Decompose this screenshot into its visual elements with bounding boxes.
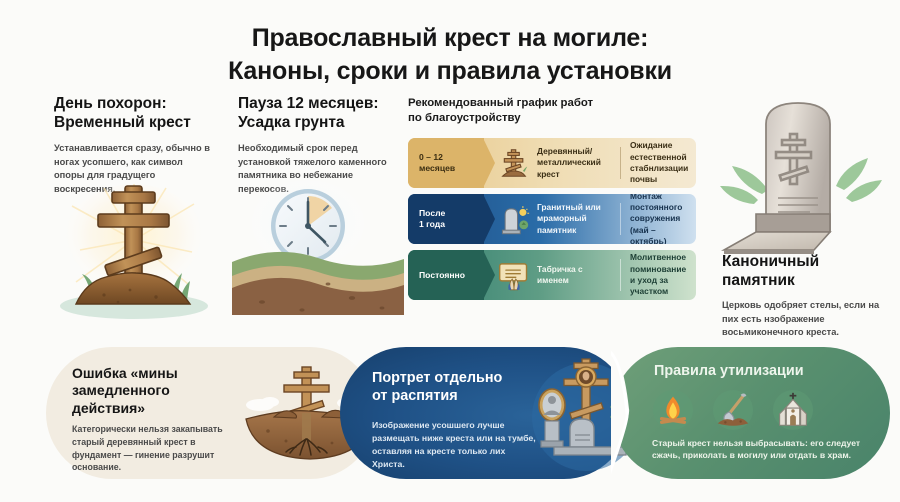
section-canonical-monument: Каноничный памятник Церковь одобряет сте… [722, 253, 882, 340]
card-mistake[interactable]: Ошибка «мины замедленного действия» Кате… [46, 347, 376, 479]
funeral-day-heading-line-1: День похорон: [54, 95, 167, 112]
schedule-row-period: 0 – 12 месяцев [408, 138, 484, 188]
title-line-2: замедленного [72, 382, 170, 398]
granite-headstone-illustration [718, 82, 890, 254]
disposal-icon-row [652, 389, 814, 436]
title-line-2: от распятия [372, 388, 458, 404]
schedule-row[interactable]: 0 – 12 месяцев Деревянный/ металлический… [408, 138, 696, 188]
schedule-row-period: Постоянно [408, 250, 484, 300]
card-portrait[interactable]: Портрет отдельно от распятия Изображение… [340, 347, 630, 479]
period-line-1: После [419, 208, 445, 218]
bonfire-icon [652, 389, 694, 436]
schedule-table: 0 – 12 месяцев Деревянный/ металлический… [408, 138, 696, 306]
schedule-row[interactable]: После 1 года Гранитный или мраморный пам… [408, 194, 696, 244]
card-mistake-body: Категорически нельзя закапывать старый д… [72, 423, 230, 474]
title-line-1: Портрет отдельно [372, 370, 502, 386]
schedule-row-note: Молитвенное поминование и уход за участк… [621, 250, 696, 300]
schedule-row-period: После 1 года [408, 194, 484, 244]
church-icon [772, 389, 814, 436]
schedule-heading: Рекомендованный график работ по благоуст… [408, 96, 668, 127]
card-portrait-title: Портрет отдельно от распятия [372, 369, 532, 405]
period-line-1: Постоянно [419, 270, 465, 280]
title-line-1: Православный крест на могиле: [0, 22, 900, 55]
period-line-2: месяцев [419, 163, 455, 173]
card-disposal-title: Правила утилизации [654, 363, 804, 381]
canonical-heading-line-2: памятник [722, 272, 795, 289]
shovel-in-soil-icon [712, 389, 754, 436]
schedule-row-note: Монтаж постоянного совружения (май – окт… [621, 194, 696, 244]
settling-heading-line-2: Усадка грунта [238, 114, 345, 131]
canonical-heading-line-1: Каноничный [722, 253, 819, 270]
clock-over-soil-layers-illustration [232, 180, 404, 316]
period-line-2: 1 года [419, 219, 445, 229]
schedule-heading-line-2: по благоустройству [408, 112, 521, 124]
wooden-cross-on-mound-illustration [52, 178, 222, 320]
title-line-3: действия» [72, 400, 145, 416]
infographic-canvas: Православный крест на могиле: Каноны, ср… [0, 0, 900, 502]
page-title: Православный крест на могиле: Каноны, ср… [0, 22, 900, 88]
card-disposal[interactable]: Правила утилизации [612, 347, 890, 479]
canonical-body: Церковь одобряет стелы, если на пих есть… [722, 299, 882, 340]
funeral-day-heading-line-2: Временный крест [54, 114, 191, 131]
card-mistake-title: Ошибка «мины замедленного действия» [72, 365, 222, 417]
schedule-row-middle: Табричка с именем [532, 250, 620, 300]
schedule-row-middle: Деревянный/ металлический крест [532, 138, 620, 188]
title-line-1: Ошибка «мины [72, 365, 178, 381]
schedule-row-note: Ожидание естественной стабнлизации почвы [621, 138, 696, 188]
schedule-row[interactable]: Постоянно Табричка с именем Моли [408, 250, 696, 300]
card-portrait-body: Изображение усошшего лучше размещать ниж… [372, 419, 540, 471]
settling-heading-line-1: Пауза 12 месяцев: [238, 95, 379, 112]
schedule-heading-line-1: Рекомендованный график работ [408, 97, 593, 109]
schedule-row-middle: Гранитный или мраморный памятник [532, 194, 620, 244]
card-disposal-body: Старый крест нельзя выбрасывать: его сле… [652, 437, 872, 462]
period-line-1: 0 – 12 [419, 152, 443, 162]
